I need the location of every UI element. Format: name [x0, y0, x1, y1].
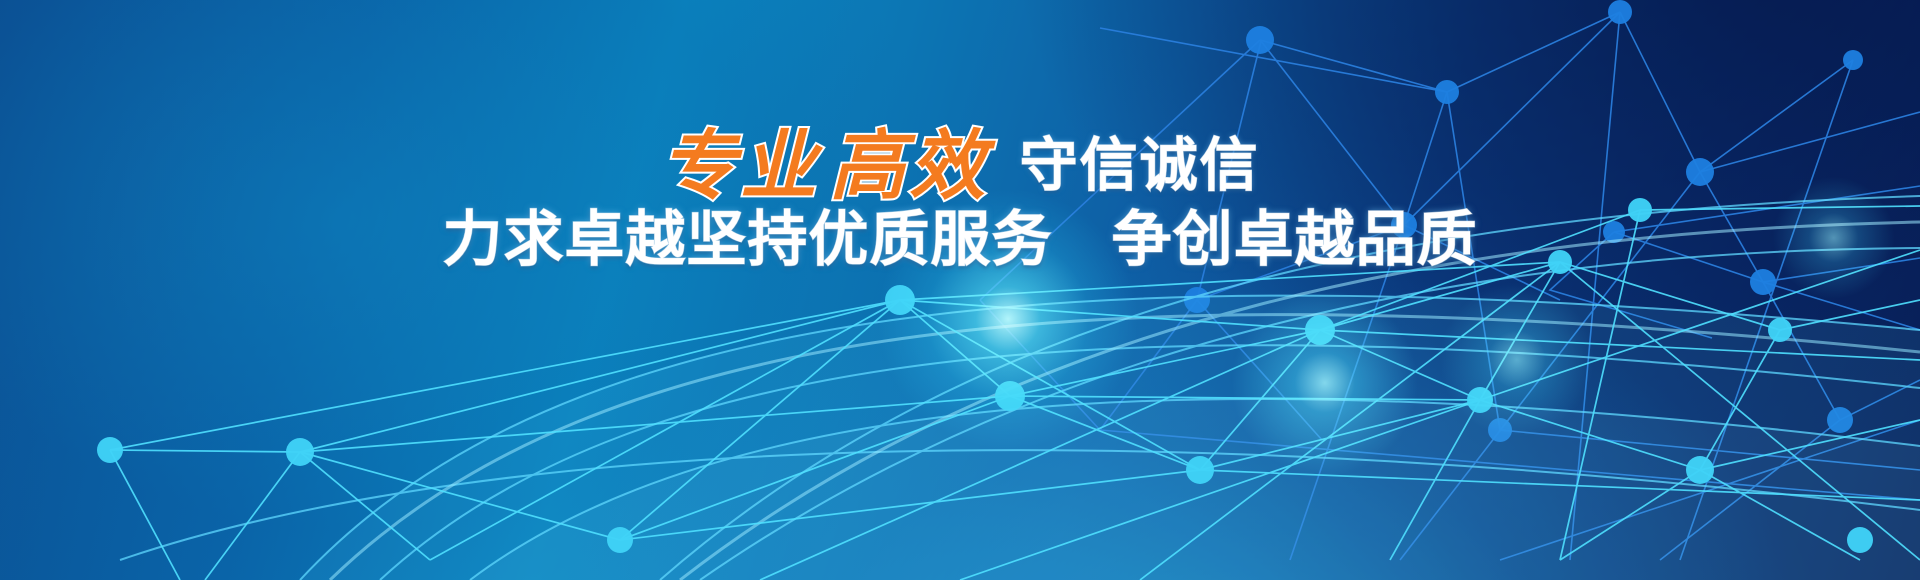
headline-calligraphy-1: 专业	[660, 128, 820, 204]
hero-banner: 专业 高效 守信诚信 力求卓越坚持优质服务 争创卓越品质	[0, 0, 1920, 580]
headline-plain: 守信诚信	[1020, 137, 1260, 195]
light-glow-overlay	[0, 0, 1920, 580]
headline-block: 专业 高效 守信诚信 力求卓越坚持优质服务 争创卓越品质	[0, 128, 1920, 270]
headline-line-1: 专业 高效 守信诚信	[0, 128, 1920, 204]
headline-line-2: 力求卓越坚持优质服务 争创卓越品质	[0, 210, 1920, 270]
subheadline-right: 争创卓越品质	[1112, 206, 1478, 273]
headline-calligraphy-2: 高效	[829, 128, 989, 204]
subheadline-left: 力求卓越坚持优质服务	[442, 206, 1052, 273]
